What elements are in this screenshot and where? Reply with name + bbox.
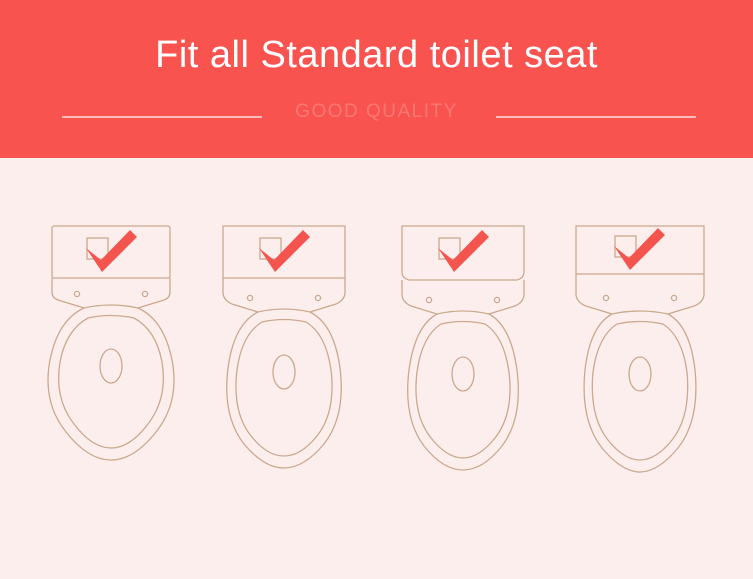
banner-subtitle: GOOD QUALITY xyxy=(0,100,753,124)
product-infographic: Fit all Standard toilet seat GOOD QUALIT… xyxy=(0,0,753,579)
toilet-figure-elongate xyxy=(391,220,551,480)
toilet-diagrams: O Style V Style Elongate U Style xyxy=(0,158,753,579)
divider-right xyxy=(496,116,696,118)
divider-left xyxy=(62,116,262,118)
toilet-figure-u-style xyxy=(566,220,726,480)
check-mark-icon xyxy=(86,230,137,272)
check-mark-icon xyxy=(438,230,489,272)
page-title: Fit all Standard toilet seat xyxy=(0,30,753,80)
check-mark-icon xyxy=(259,230,310,272)
header-banner: Fit all Standard toilet seat GOOD QUALIT… xyxy=(0,0,753,158)
check-mark-icon xyxy=(614,228,665,270)
toilet-figure-v-style xyxy=(212,220,372,480)
toilet-figure-o-style xyxy=(38,220,198,480)
